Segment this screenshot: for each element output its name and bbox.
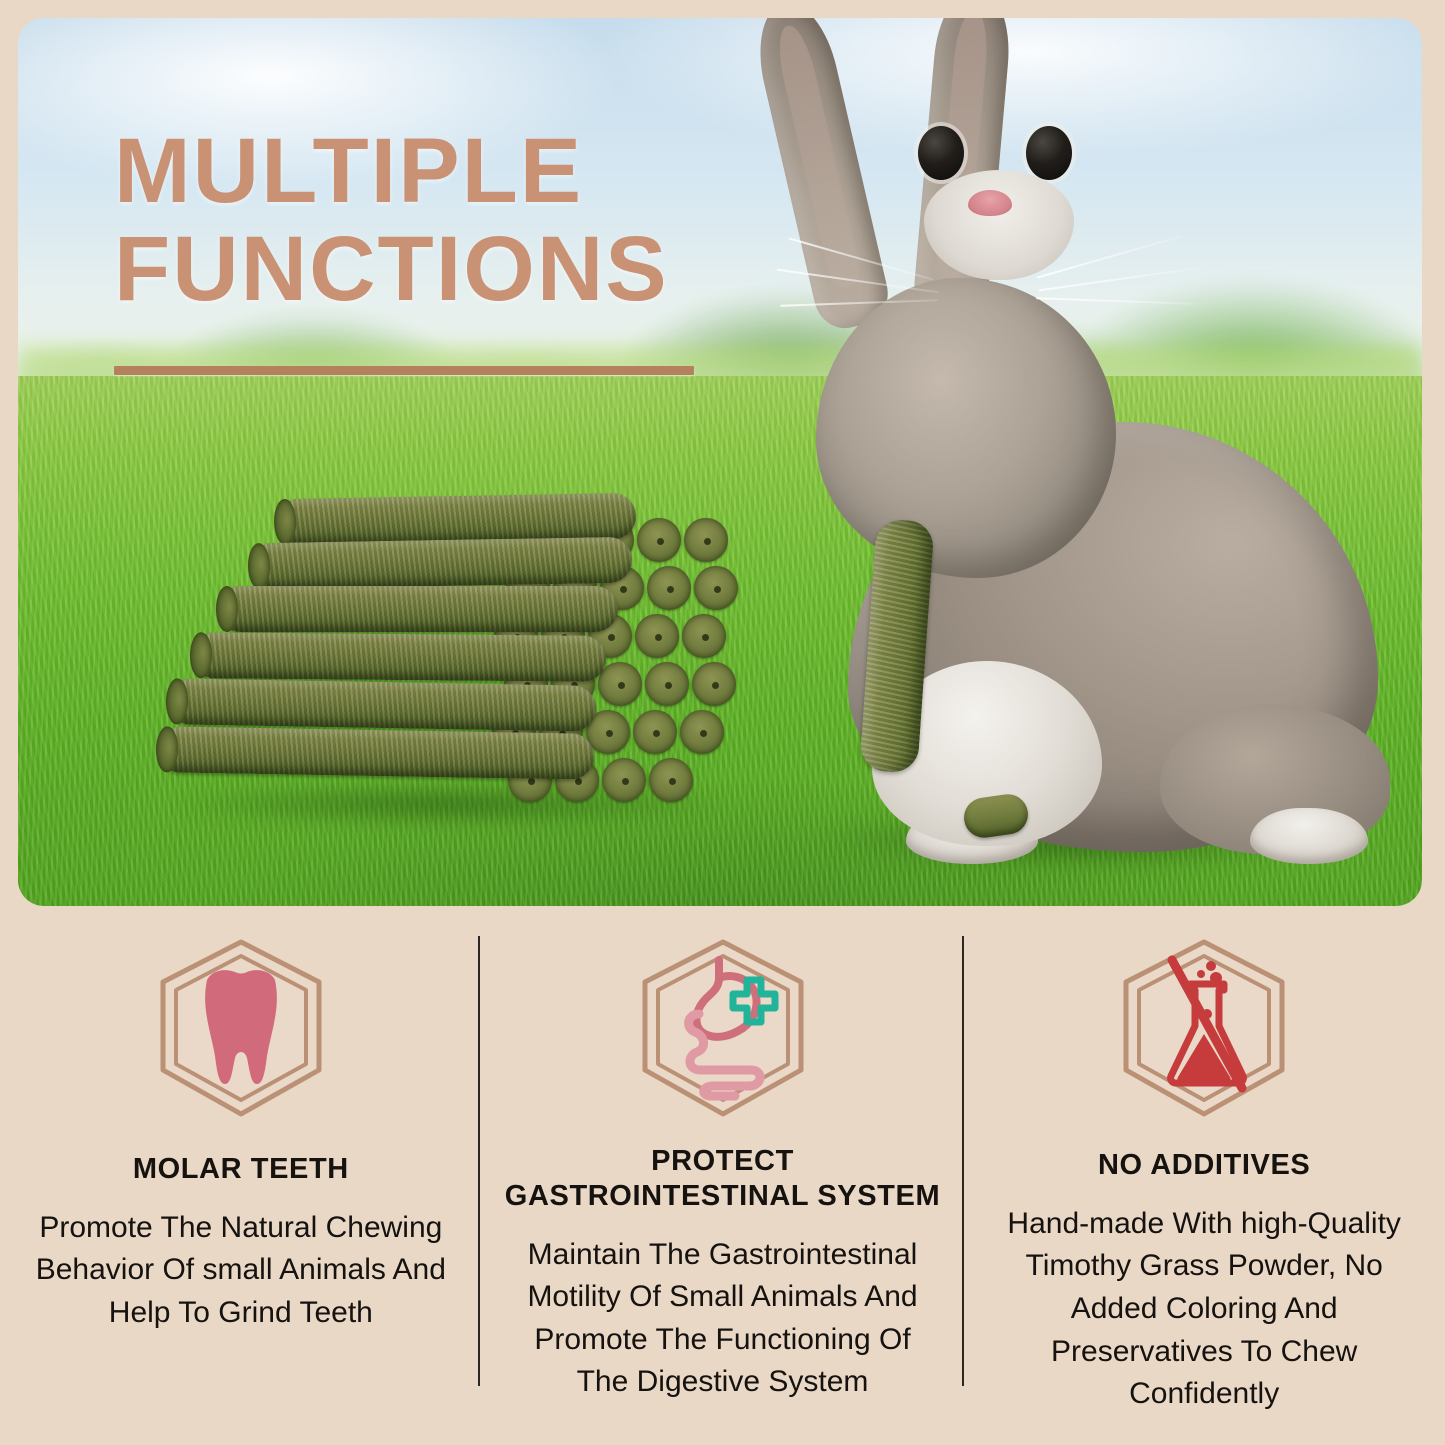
feature-gastrointestinal: PROTECT GASTROINTESTINAL SYSTEM Maintain…	[482, 920, 964, 1445]
no-additives-flask-icon	[1112, 936, 1296, 1120]
rabbit-right-eye	[1026, 126, 1072, 180]
feature-description: Hand-made With high-Quality Timothy Gras…	[981, 1203, 1427, 1416]
page-title: MULTIPLE FUNCTIONS	[114, 126, 754, 314]
feature-description: Promote The Natural Chewing Behavior Of …	[18, 1207, 464, 1335]
feature-title: NO ADDITIVES	[981, 1148, 1427, 1183]
rabbit-illustration	[756, 48, 1396, 878]
rabbit-rear-foot	[1250, 808, 1368, 864]
feature-no-additives: NO ADDITIVES Hand-made With high-Quality…	[963, 920, 1445, 1445]
molar-tooth-icon	[149, 936, 333, 1120]
gastrointestinal-stomach-icon	[631, 936, 815, 1120]
title-underline	[114, 366, 694, 375]
gastrointestinal-icon-frame	[631, 936, 815, 1120]
feature-row: MOLAR TEETH Promote The Natural Chewing …	[0, 920, 1445, 1445]
infographic-page: MULTIPLE FUNCTIONS	[0, 0, 1445, 1445]
molar-tooth-icon-frame	[149, 936, 333, 1120]
rabbit-head	[816, 278, 1116, 578]
feature-description: Maintain The Gastrointestinal Motility O…	[500, 1234, 946, 1404]
title-line-2: FUNCTIONS	[114, 224, 754, 314]
rabbit-muzzle	[924, 170, 1074, 280]
hay-stick-bundle	[158, 488, 738, 818]
no-additives-icon-frame	[1112, 936, 1296, 1120]
hero-photo: MULTIPLE FUNCTIONS	[18, 18, 1422, 906]
title-line-1: MULTIPLE	[114, 126, 754, 216]
feature-molar-teeth: MOLAR TEETH Promote The Natural Chewing …	[0, 920, 482, 1445]
feature-title-line-1: PROTECT	[500, 1144, 946, 1179]
feature-title: PROTECT GASTROINTESTINAL SYSTEM	[500, 1144, 946, 1214]
rabbit-nose	[968, 190, 1012, 216]
rabbit-left-ear	[748, 18, 894, 334]
feature-title: MOLAR TEETH	[18, 1152, 464, 1187]
feature-title-line-2: GASTROINTESTINAL SYSTEM	[500, 1179, 946, 1214]
rabbit-left-eye	[918, 126, 964, 180]
